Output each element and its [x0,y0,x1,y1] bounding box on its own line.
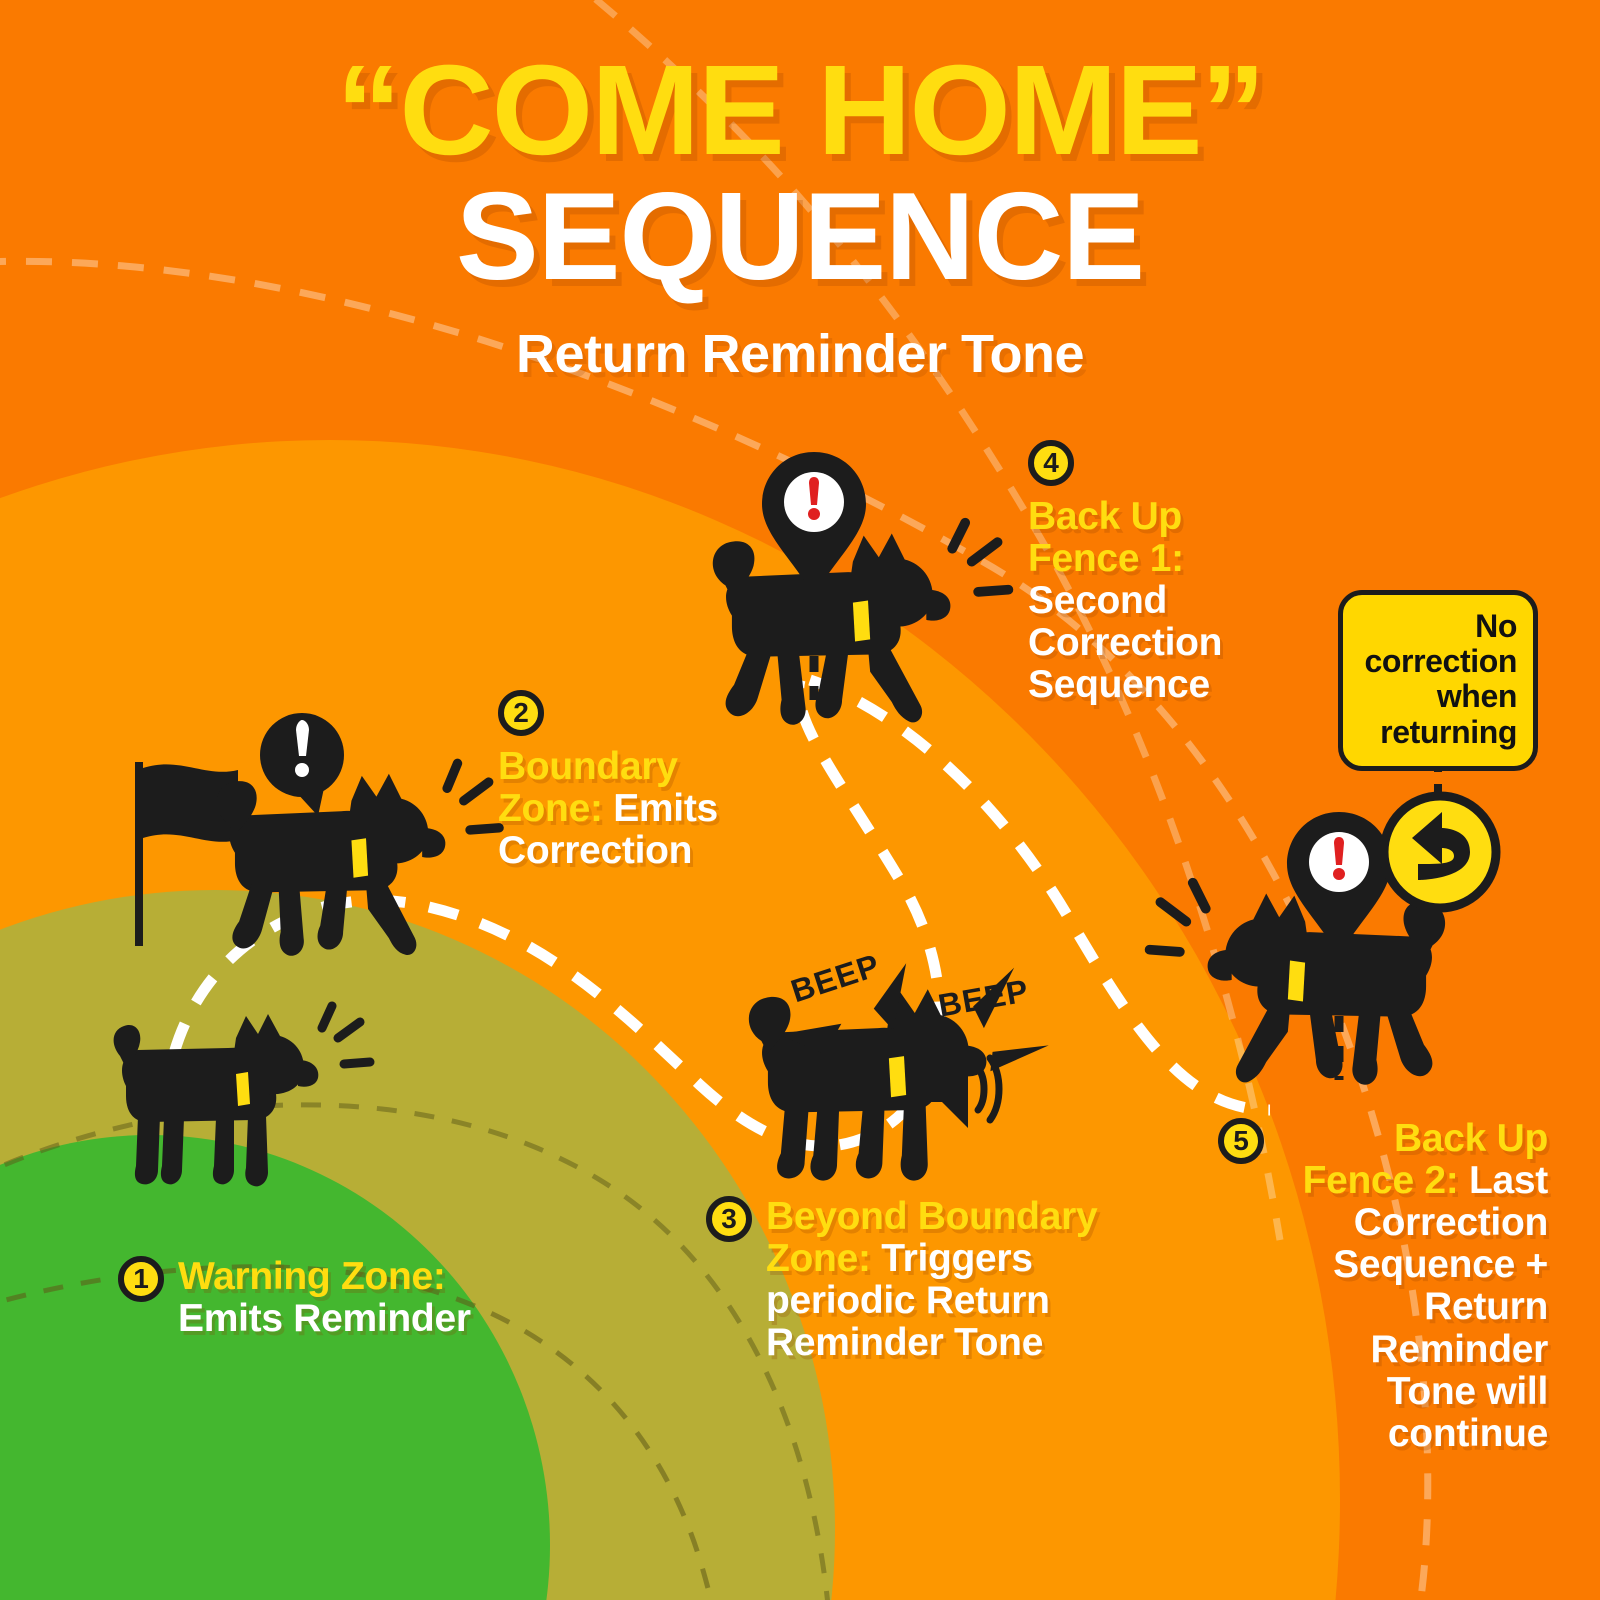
step-body-5: Last Correction Sequence + Return Remind… [1333,1159,1548,1455]
step-text-3: Beyond Boundary Zone: Triggers periodic … [766,1196,1166,1364]
step-body-4: Second Correction Sequence [1028,579,1222,706]
step-callout-5: 5 Back Up Fence 2: Last Correction Seque… [1218,1118,1548,1455]
step-callout-1: 1 Warning Zone: Emits Reminder [118,1256,478,1340]
step-callout-3: 3 Beyond Boundary Zone: Triggers periodi… [706,1196,1166,1364]
u-turn-arrow-icon[interactable] [1384,796,1496,908]
dog-icon [1150,883,1446,1085]
page-title: “COME HOME” SEQUENCE Return Reminder Ton… [0,48,1600,385]
step-number-badge: 2 [498,690,544,736]
step-number-badge: 4 [1028,440,1074,486]
speech-bubble-alert-icon [260,713,344,816]
dog-icon [217,763,500,955]
step-text-1: Warning Zone: Emits Reminder [178,1256,478,1340]
title-line-2: SEQUENCE [0,175,1600,299]
step-callout-4: 4 Back Up Fence 1: Second Correction Seq… [1028,440,1268,707]
title-subtitle: Return Reminder Tone [0,325,1600,384]
step-callout-2: 2 Boundary Zone: Emits Correction [498,690,748,872]
dog-icon [713,523,1009,725]
infographic-canvas: “COME HOME” SEQUENCE Return Reminder Ton… [0,0,1600,1600]
step-heading-1: Warning Zone: [178,1255,446,1298]
step-heading-4: Back Up Fence 1: [1028,495,1184,580]
no-correction-text: No correction when returning [1359,609,1517,750]
title-line-1: “COME HOME” [0,48,1600,173]
step-body-1: Emits Reminder [178,1297,471,1340]
no-correction-badge: No correction when returning [1338,590,1538,771]
step-number-badge: 3 [706,1196,752,1242]
step-text-2: Boundary Zone: Emits Correction [498,746,748,872]
step-number-badge: 1 [118,1256,164,1302]
step-text-4: Back Up Fence 1: Second Correction Seque… [1028,496,1268,707]
step-number-badge: 5 [1218,1118,1264,1164]
step-text-5: Back Up Fence 2: Last Correction Sequenc… [1278,1118,1548,1455]
dog-icon [114,1006,370,1186]
